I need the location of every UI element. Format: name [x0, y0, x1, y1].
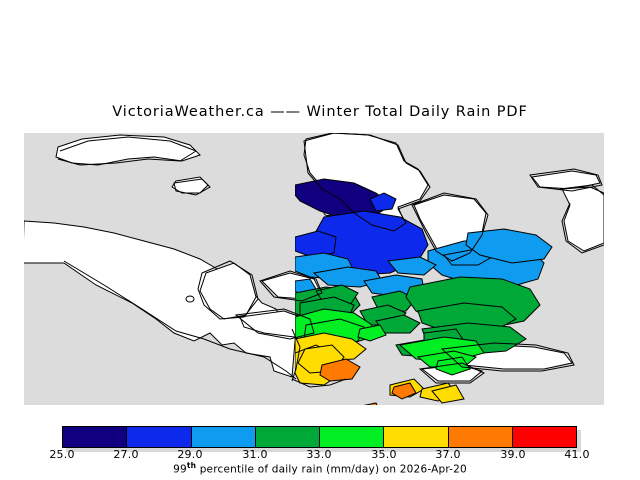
colorbar-band-35-37[interactable]: [384, 427, 448, 447]
colorbar-caption-prefix: 99: [173, 464, 187, 476]
map-graphic: [24, 133, 604, 405]
colorbar-tick-4: 33.0: [306, 448, 331, 461]
colorbar-band-25-27[interactable]: [63, 427, 127, 447]
colorbar-tick-8: 41.0: [564, 448, 589, 461]
colorbar-caption-superscript: th: [187, 461, 196, 470]
colorbar-tick-6: 37.0: [435, 448, 460, 461]
contour-band-27-29-west: [295, 231, 336, 257]
colorbar-bands[interactable]: [62, 426, 577, 448]
colorbar-band-27-29[interactable]: [127, 427, 191, 447]
colorbar-band-31-33[interactable]: [256, 427, 320, 447]
colorbar-caption: 99th percentile of daily rain (mm/day) o…: [0, 461, 640, 476]
colorbar-tick-1: 27.0: [113, 448, 138, 461]
page-title: VictoriaWeather.ca —— Winter Total Daily…: [0, 104, 640, 120]
colorbar-tick-3: 31.0: [242, 448, 267, 461]
colorbar-tick-7: 39.0: [500, 448, 525, 461]
colorbar-tick-5: 35.0: [371, 448, 396, 461]
colorbar-tick-0: 25.0: [49, 448, 74, 461]
colorbar-band-39-41[interactable]: [513, 427, 576, 447]
colorbar-band-37-39[interactable]: [449, 427, 513, 447]
colorbar-band-29-31[interactable]: [192, 427, 256, 447]
colorbar-tick-2: 29.0: [177, 448, 202, 461]
weather-map-figure: VictoriaWeather.ca —— Winter Total Daily…: [0, 0, 640, 480]
east-water: [562, 187, 604, 251]
map-panel[interactable]: [24, 133, 604, 405]
colorbar-band-33-35[interactable]: [320, 427, 384, 447]
small-lake-c: [186, 296, 194, 302]
colorbar[interactable]: [62, 426, 577, 448]
colorbar-caption-rest: percentile of daily rain (mm/day) on 202…: [196, 464, 467, 476]
colorbar-tick-labels: 25.0 27.0 29.0 31.0 33.0 35.0 37.0 39.0 …: [0, 448, 640, 462]
